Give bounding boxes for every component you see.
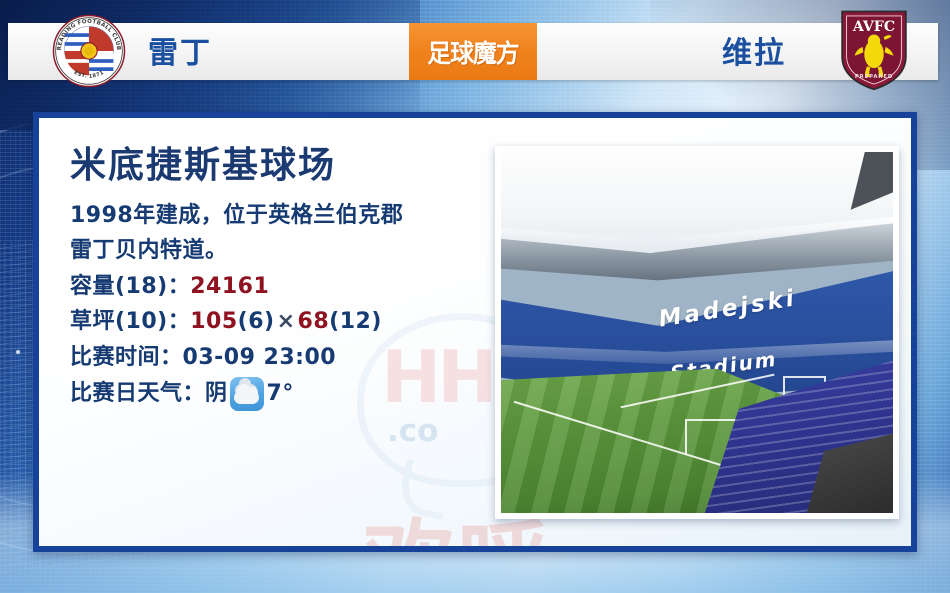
capacity-row: 容量(18)：24161	[70, 269, 500, 305]
stadium-description-line-2: 雷丁贝内特道。	[70, 233, 500, 269]
reading-fc-crest: READING FOOTBALL CLUB EST. 1871	[52, 14, 126, 88]
svg-text:PREPARED: PREPARED	[855, 74, 893, 80]
site-logo[interactable]: 足球魔方	[409, 23, 537, 80]
watermark-domain: .co	[387, 413, 438, 449]
svg-text:AVFC: AVFC	[852, 19, 895, 35]
match-info-graphic: READING FOOTBALL CLUB EST. 1871 雷丁 足球魔方 …	[0, 0, 950, 593]
background-dot	[16, 350, 20, 354]
weather-label: 比赛日天气：	[70, 376, 205, 412]
watermark-bubble-tail	[396, 459, 453, 521]
site-logo-text: 足球魔方	[427, 34, 518, 70]
weather-temperature: 7°	[267, 376, 294, 412]
capacity-label: 容量(18)：	[70, 274, 190, 299]
cloudy-icon	[230, 377, 264, 411]
stadium-info-text: 米底捷斯基球场 1998年建成，位于英格兰伯克郡 雷丁贝内特道。 容量(18)：…	[70, 146, 500, 411]
pitch-length: 105	[190, 309, 237, 334]
away-team-name: 维拉	[722, 28, 786, 72]
home-team-name: 雷丁	[148, 28, 212, 72]
pitch-row: 草坪(10)：105(6)×68(12)	[70, 304, 500, 340]
stadium-title: 米底捷斯基球场	[70, 146, 500, 186]
stadium-info-panel: HH .co 欢呼 米底捷斯基球场 1998年建成，位于英格兰伯克郡 雷丁贝内特…	[33, 112, 917, 552]
match-time-value: 03-09 23:00	[183, 345, 337, 370]
aston-villa-crest: AVFC PREPARED	[838, 8, 910, 92]
pitch-length-rank: (6)	[238, 309, 275, 334]
pitch-label: 草坪(10)：	[70, 309, 190, 334]
match-time-label: 比赛时间：	[70, 345, 183, 370]
pitch-width: 68	[298, 309, 330, 334]
stadium-description-line-1: 1998年建成，位于英格兰伯克郡	[70, 198, 500, 234]
capacity-value: 24161	[190, 274, 269, 299]
pitch-times-sign: ×	[275, 309, 298, 334]
pitch-width-rank: (12)	[329, 309, 382, 334]
stadium-photo: Madejski Stadium	[501, 152, 893, 513]
match-time-row: 比赛时间：03-09 23:00	[70, 340, 500, 376]
stadium-photo-frame: Madejski Stadium	[495, 146, 899, 519]
weather-row: 比赛日天气：阴7°	[70, 376, 500, 412]
weather-condition: 阴	[205, 376, 228, 412]
